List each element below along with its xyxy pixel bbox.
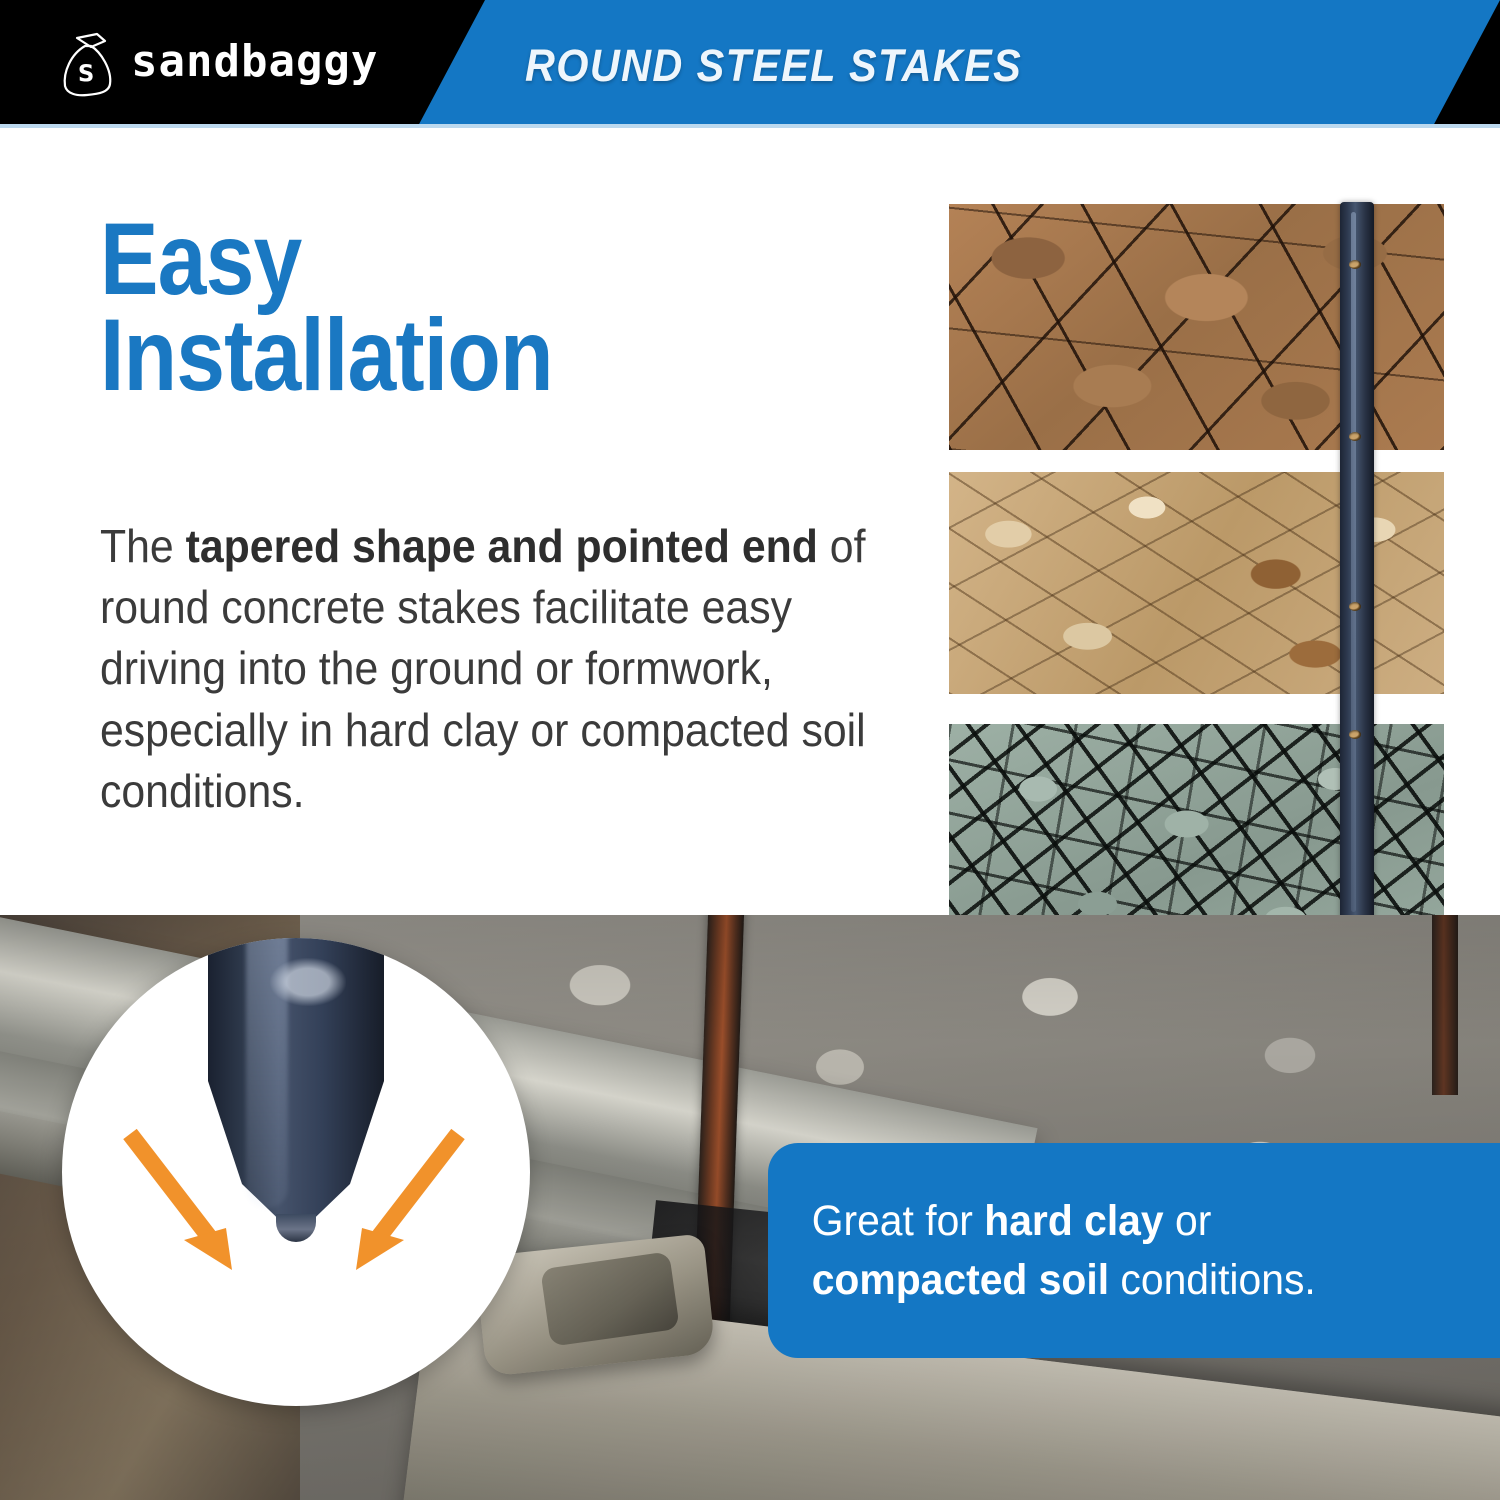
body-seg-1: The: [100, 520, 186, 572]
brand-logo: s sandbaggy: [55, 22, 378, 102]
header-bar: s sandbaggy ROUND STEEL STAKES: [0, 0, 1500, 128]
stake-highlight: [1351, 212, 1356, 912]
arrow-down-left-icon: [324, 1120, 474, 1280]
round-steel-stake-overlay: [1340, 202, 1374, 974]
tapered-point-detail-inset: [62, 998, 530, 1398]
svg-text:s: s: [77, 54, 95, 89]
callout-seg-5: conditions.: [1109, 1256, 1316, 1304]
stake-nail-hole: [1349, 730, 1361, 739]
detail-stake-tip-cap: [276, 1214, 316, 1242]
brand-name: sandbaggy: [131, 40, 378, 84]
callout-banner: Great for hard clay or compacted soil co…: [768, 1143, 1500, 1358]
stake-nail-hole: [1349, 602, 1361, 611]
detail-circle-background: [62, 938, 530, 1406]
callout-seg-4-bold: compacted soil: [812, 1256, 1109, 1304]
body-paragraph: The tapered shape and pointed end of rou…: [100, 516, 900, 822]
stake-shaft: [1340, 202, 1374, 942]
callout-seg-1: Great for: [812, 1197, 985, 1245]
stake-nail-hole: [1349, 432, 1361, 441]
callout-seg-3: or: [1164, 1197, 1212, 1245]
infographic-page: s sandbaggy ROUND STEEL STAKES Easy Inst…: [0, 0, 1500, 1500]
headline-line-2: Installation: [100, 308, 805, 404]
callout-seg-2-bold: hard clay: [984, 1197, 1163, 1245]
sandbag-icon: s: [55, 22, 119, 102]
arrow-down-right-icon: [114, 1120, 264, 1280]
page-title: Easy Installation: [100, 212, 805, 404]
header-title: ROUND STEEL STAKES: [525, 40, 1022, 92]
detail-stake-scuff: [270, 958, 346, 1006]
header-underline: [0, 124, 1500, 128]
body-seg-2-bold: tapered shape and pointed end: [186, 520, 818, 572]
callout-text: Great for hard clay or compacted soil co…: [768, 1192, 1340, 1309]
stake-nail-hole: [1349, 260, 1361, 269]
